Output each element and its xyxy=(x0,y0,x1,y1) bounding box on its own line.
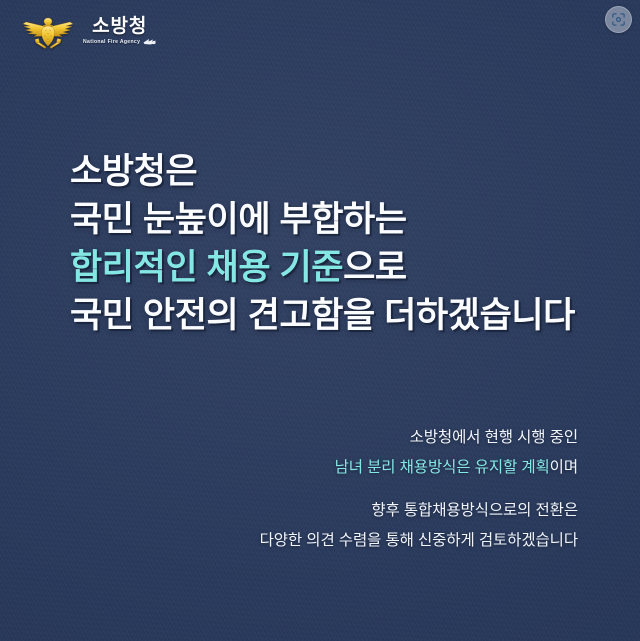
agency-name-ko: 소방청 xyxy=(92,17,147,37)
headline-line-4-segment-1: 국민 안전의 견고함을 더하겠습니다 xyxy=(70,296,575,335)
paragraph-group-divider xyxy=(260,483,578,496)
paragraph-group-2-line-2: 다양한 의견 수렴을 통해 신중하게 검토하겠습니다 xyxy=(260,526,578,556)
agency-logo-text: 소방청 National Fire Agency xyxy=(83,17,156,46)
headline-line-4: 국민 안전의 견고함을 더하겠습니다 xyxy=(70,292,575,340)
paragraph-group-2-line-1-segment-1: 향후 통합채용방식으로의 전환은 xyxy=(371,502,578,519)
paragraph-group-1-line-2-segment-2: 이며 xyxy=(550,459,578,476)
body-paragraph: 소방청에서 현행 시행 중인 남녀 분리 채용방식은 유지할 계획이며 향후 통… xyxy=(260,423,578,556)
headline-line-3-segment-1-highlight: 합리적인 채용 기준 xyxy=(70,248,343,287)
headline: 소방청은 국민 눈높이에 부합하는 합리적인 채용 기준으로 국민 안전의 견고… xyxy=(70,148,575,340)
paragraph-group-1-line-2-segment-1-highlight: 남녀 분리 채용방식은 유지할 계획 xyxy=(335,459,550,476)
fire-agency-eagle-emblem-icon xyxy=(22,12,74,50)
agency-name-en: National Fire Agency xyxy=(83,39,140,45)
paragraph-group-1-line-1-segment-1: 소방청에서 현행 시행 중인 xyxy=(410,429,578,446)
agency-name-en-row: National Fire Agency xyxy=(83,38,156,45)
scan-focus-button[interactable] xyxy=(605,6,632,33)
headline-line-1: 소방청은 xyxy=(70,148,575,196)
promotional-card: 소방청 National Fire Agency 소방청은 국민 눈높이에 부합… xyxy=(0,0,640,641)
paragraph-group-1-line-2: 남녀 분리 채용방식은 유지할 계획이며 xyxy=(260,453,578,483)
scan-focus-icon xyxy=(611,12,626,27)
agency-logo: 소방청 National Fire Agency xyxy=(22,12,156,50)
headline-line-2-segment-1: 국민 눈높이에 부합하는 xyxy=(70,200,407,239)
headline-line-1-segment-1: 소방청은 xyxy=(70,152,197,191)
paragraph-group-2-line-2-segment-1: 다양한 의견 수렴을 통해 신중하게 검토하겠습니다 xyxy=(260,532,578,549)
headline-line-3: 합리적인 채용 기준으로 xyxy=(70,244,575,292)
paragraph-group-2-line-1: 향후 통합채용방식으로의 전환은 xyxy=(260,496,578,526)
nfa-wing-mark-icon xyxy=(143,38,156,45)
paragraph-group-1-line-1: 소방청에서 현행 시행 중인 xyxy=(260,423,578,453)
headline-line-2: 국민 눈높이에 부합하는 xyxy=(70,196,575,244)
headline-line-3-segment-2: 으로 xyxy=(343,248,407,287)
